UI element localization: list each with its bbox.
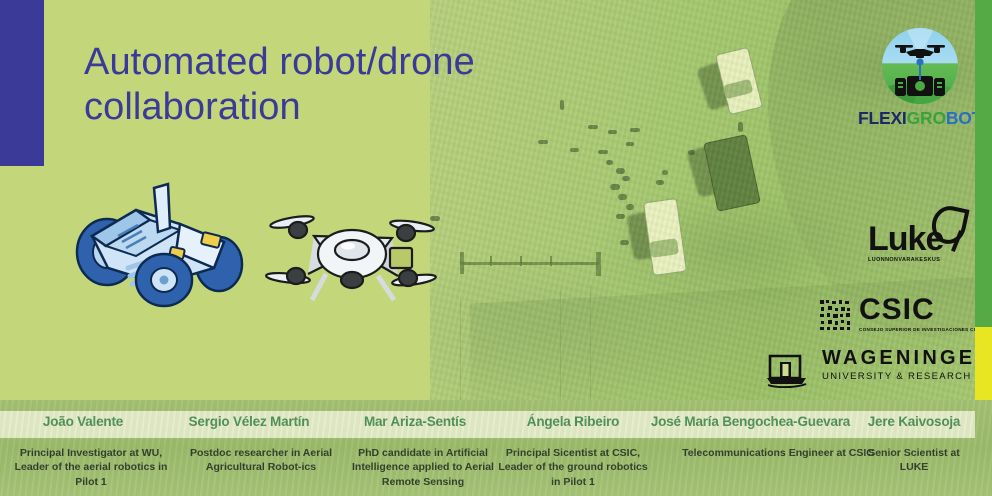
team-member: Jere KaivosojaSenior Scientist at LUKE [853,400,975,496]
field-pickup [643,198,687,276]
csic-wordmark: CSIC [859,295,992,325]
team-member-name: Ángela Ribeiro [498,414,648,429]
team-member-role: Senior Scientist at LUKE [853,446,975,475]
team-member: Sergio Vélez MartínPostdoc researcher in… [166,400,332,496]
flexigrobots-logo: FLEXIGROBOTS [858,28,982,129]
team-member-role: Principal Investigator at WU, Leader of … [0,446,182,489]
drone-illustration [262,196,442,310]
antenna-icon [913,58,927,84]
team-member-name: Mar Ariza-Sentís [332,414,498,429]
team-member-name: José María Bengochea-Guevara [648,414,853,429]
team-member: Ángela RibeiroPrincipal Sicentist at CSI… [498,400,648,496]
team-member-role: Postdoc researcher in Aerial Agricultura… [166,446,356,475]
blue-accent-bar [0,0,44,166]
green-accent-strip [975,0,992,327]
team-member: José María Bengochea-GuevaraTelecommunic… [648,400,853,496]
csic-logo: CSIC CONSEJO SUPERIOR DE INVESTIGACIONES… [818,298,992,335]
field-implement [460,262,600,265]
wageningen-logo: WAGENINGEN UNIVERSITY & RESEARCH [766,348,992,388]
team-member-name: Jere Kaivosoja [853,414,975,429]
team-member-list: João ValentePrincipal Investigator at WU… [0,400,975,496]
team-member: João ValentePrincipal Investigator at WU… [0,400,166,496]
team-member: Mar Ariza-SentísPhD candidate in Artific… [332,400,498,496]
field-van [715,47,763,115]
csic-subtitle: CONSEJO SUPERIOR DE INVESTIGACIONES CIEN… [859,327,992,332]
ground-robot-illustration [64,176,250,308]
page-title: Automated robot/drone collaboration [84,40,604,130]
team-name-highlight-band [0,411,975,438]
wageningen-subtitle: UNIVERSITY & RESEARCH [822,371,992,382]
wageningen-wordmark: WAGENINGEN [822,348,992,368]
team-member-role: PhD candidate in Artificial Intelligence… [332,446,514,489]
flexigrobots-wordmark: FLEXIGROBOTS [858,108,982,129]
team-band: João ValentePrincipal Investigator at WU… [0,400,992,496]
wordmark-flexi: FLEXI [858,108,907,128]
presentation-slide: Automated robot/drone collaboration [0,0,992,496]
team-member-role: Principal Sicentist at CSIC, Leader of t… [498,446,648,489]
team-member-name: Sergio Vélez Martín [166,414,332,429]
luke-logo: Luke LUONNONVARAKESKUS [868,222,964,263]
csic-seal-icon [818,298,852,332]
team-member-role: Telecommunications Engineer at CSIC [648,446,908,460]
flexigrobots-emblem [882,28,958,104]
wageningen-mark-icon [766,348,812,388]
wordmark-gro: GRO [907,108,946,128]
field-truck [703,134,761,212]
team-member-name: João Valente [0,414,166,429]
